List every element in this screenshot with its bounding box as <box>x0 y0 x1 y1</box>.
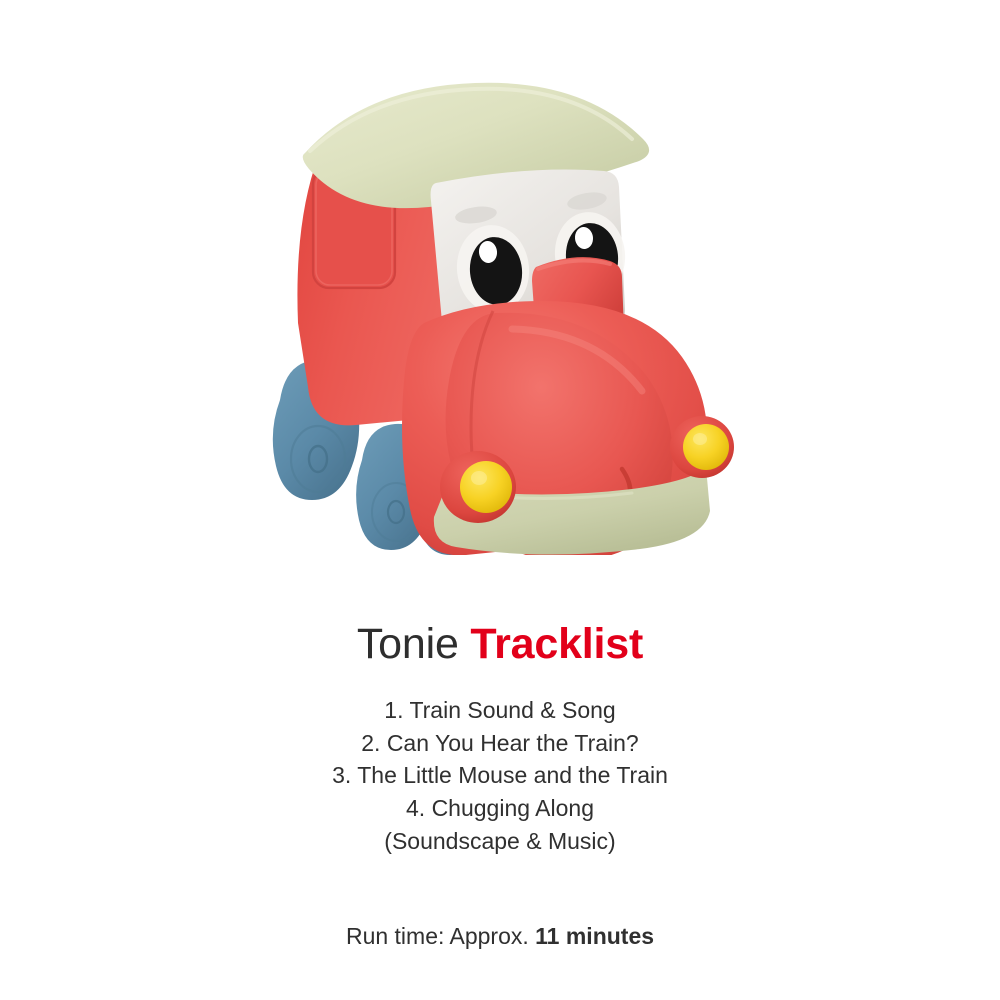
runtime-label: Run time: Approx. <box>346 923 529 949</box>
rear-lamp <box>670 416 734 478</box>
train-figurine-illustration <box>250 55 750 555</box>
page-title: Tonie Tracklist <box>0 620 1000 668</box>
front-lamp <box>440 451 516 523</box>
title-word-tracklist: Tracklist <box>470 620 643 668</box>
train-tonie-figurine <box>250 55 750 555</box>
runtime-value: 11 minutes <box>535 923 654 949</box>
track-list: 1. Train Sound & Song 2. Can You Hear th… <box>0 694 1000 825</box>
track-item-1: 1. Train Sound & Song <box>0 694 1000 727</box>
runtime-line: Run time: Approx. 11 minutes <box>0 923 1000 950</box>
track-item-3: 3. The Little Mouse and the Train <box>0 759 1000 792</box>
product-image <box>0 0 1000 600</box>
product-detail-page: Tonie Tracklist 1. Train Sound & Song 2.… <box>0 0 1000 1000</box>
track-item-2: 2. Can You Hear the Train? <box>0 727 1000 760</box>
tracklist-info: Tonie Tracklist 1. Train Sound & Song 2.… <box>0 620 1000 973</box>
track-item-4: 4. Chugging Along <box>0 792 1000 825</box>
track-note: (Soundscape & Music) <box>0 825 1000 858</box>
title-word-tonie: Tonie <box>357 620 459 668</box>
